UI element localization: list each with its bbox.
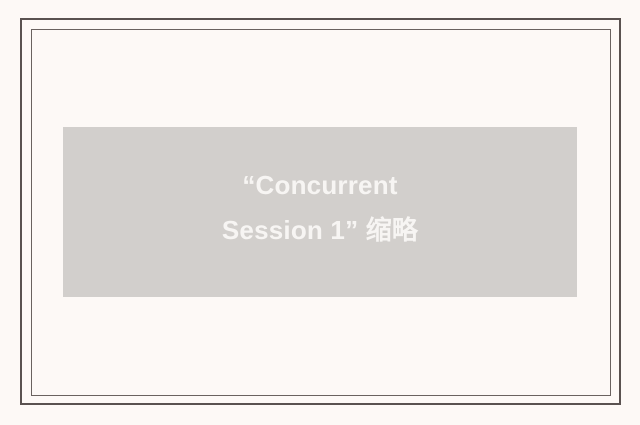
page-canvas: “Concurrent Session 1” 缩略 <box>0 0 640 425</box>
placeholder-caption-text: “Concurrent Session 1” 缩略 <box>212 163 428 253</box>
image-placeholder-block: “Concurrent Session 1” 缩略 <box>63 127 577 297</box>
